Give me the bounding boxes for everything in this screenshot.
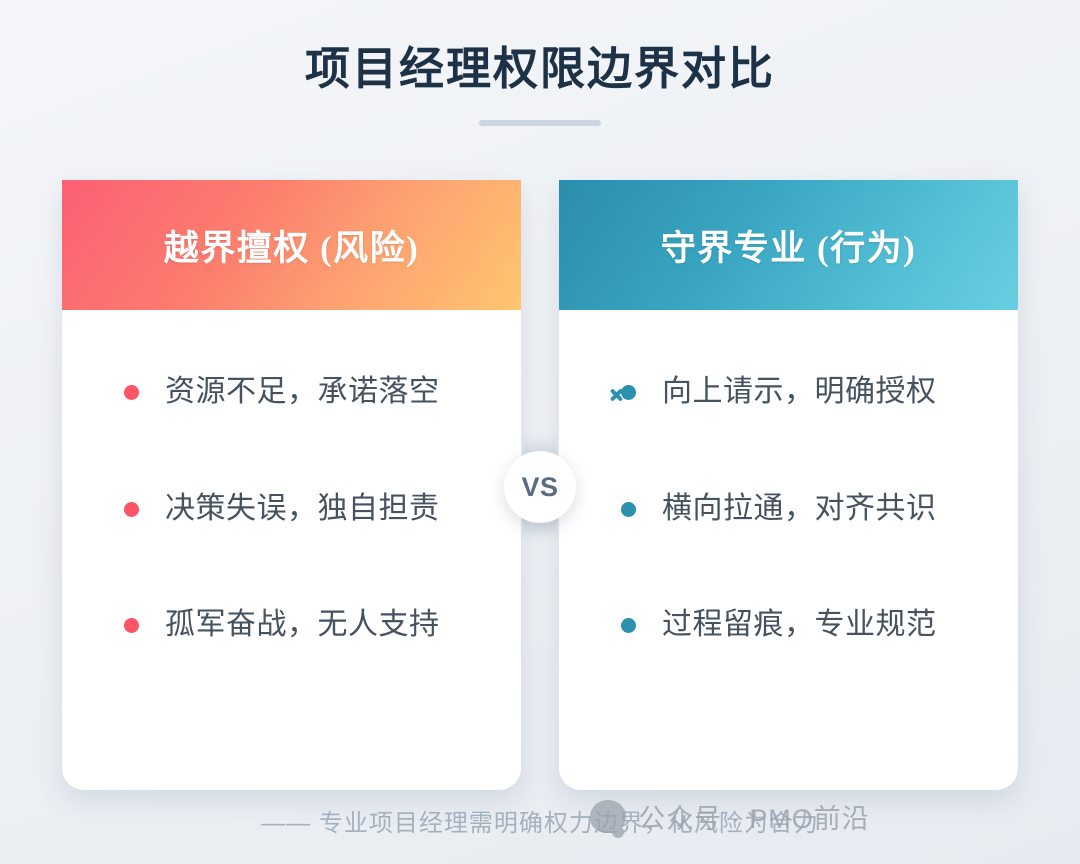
vs-label: VS bbox=[521, 472, 558, 503]
list-item-label: 向上请示，明确授权 bbox=[662, 372, 937, 413]
professional-bullet-list: 向上请示，明确授权 横向拉通，对齐共识 过程留痕，专业规范 bbox=[559, 372, 1018, 646]
vs-badge: VS bbox=[504, 451, 576, 523]
list-item: 过程留痕，专业规范 bbox=[559, 605, 1018, 646]
footer-quote: —— 专业项目经理需明确权力边界，化风险为合力 bbox=[261, 810, 819, 837]
card-risk-header: 越界擅权 (风险) bbox=[62, 180, 521, 310]
dot-icon bbox=[621, 618, 636, 633]
footer: —— 专业项目经理需明确权力边界，化风险为合力 bbox=[0, 803, 1080, 838]
list-item: 决策失误，独自担责 bbox=[62, 489, 521, 530]
list-item-label: 孤军奋战，无人支持 bbox=[165, 605, 440, 646]
card-professional: 守界专业 (行为) 向上请示，明确授权 横向拉通，对齐共识 过程留痕，专业规范 bbox=[559, 180, 1018, 790]
card-risk-body: 资源不足，承诺落空 决策失误，独自担责 孤军奋战，无人支持 bbox=[62, 310, 521, 790]
list-item: 孤军奋战，无人支持 bbox=[62, 605, 521, 646]
dot-icon bbox=[124, 502, 139, 517]
card-risk-title: 越界擅权 (风险) bbox=[164, 220, 420, 271]
list-item-label: 横向拉通，对齐共识 bbox=[662, 489, 937, 530]
title-divider bbox=[479, 120, 601, 126]
page-header: 项目经理权限边界对比 bbox=[0, 0, 1080, 126]
list-item: 资源不足，承诺落空 bbox=[62, 372, 521, 413]
list-item-label: 资源不足，承诺落空 bbox=[165, 372, 440, 413]
list-item-label: 过程留痕，专业规范 bbox=[662, 605, 937, 646]
list-item: 横向拉通，对齐共识 bbox=[559, 489, 1018, 530]
dot-icon bbox=[124, 385, 139, 400]
risk-bullet-list: 资源不足，承诺落空 决策失误，独自担责 孤军奋战，无人支持 bbox=[62, 372, 521, 646]
dot-icon bbox=[621, 502, 636, 517]
card-professional-title: 守界专业 (行为) bbox=[661, 220, 917, 271]
card-professional-header: 守界专业 (行为) bbox=[559, 180, 1018, 310]
card-risk: 越界擅权 (风险) 资源不足，承诺落空 决策失误，独自担责 孤军奋战，无人支持 bbox=[62, 180, 521, 790]
list-item: 向上请示，明确授权 bbox=[559, 372, 1018, 413]
pin-cross-icon bbox=[621, 385, 636, 400]
dot-icon bbox=[124, 618, 139, 633]
page-title: 项目经理权限边界对比 bbox=[0, 42, 1080, 96]
card-professional-body: 向上请示，明确授权 横向拉通，对齐共识 过程留痕，专业规范 bbox=[559, 310, 1018, 790]
list-item-label: 决策失误，独自担责 bbox=[165, 489, 440, 530]
